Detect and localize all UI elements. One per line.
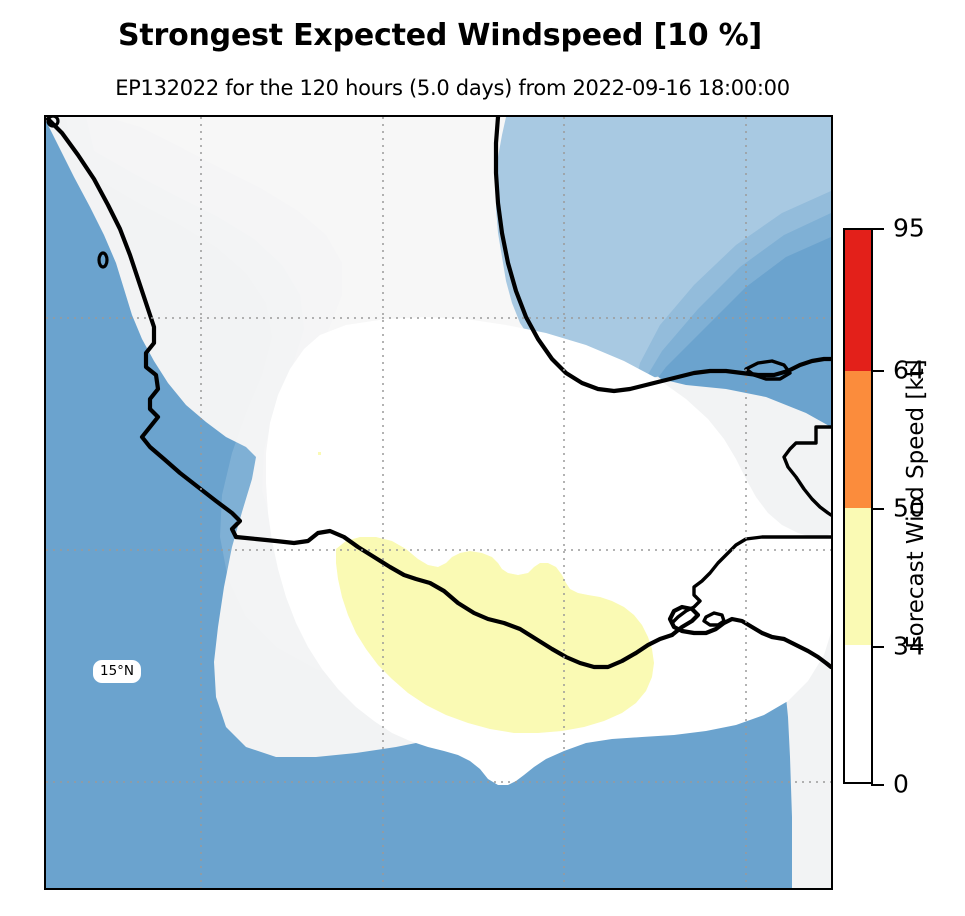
colorbar-axis-label: Forecast Wind Speed [kt] — [903, 224, 935, 784]
colorbar-tick-marks — [871, 228, 891, 784]
colorbar[interactable] — [843, 228, 873, 784]
colorbar-band-64-95 — [845, 230, 871, 371]
colorbar-tick-95 — [871, 228, 884, 230]
colorbar-tick-50 — [871, 508, 884, 510]
page-subtitle: EP132022 for the 120 hours (5.0 days) fr… — [0, 76, 905, 100]
forecast-windspeed-figure: Strongest Expected Windspeed [10 %] EP13… — [0, 0, 965, 916]
colorbar-band-50-64 — [845, 371, 871, 508]
map-canvas — [46, 117, 831, 888]
colorbar-tick-34 — [871, 646, 884, 648]
map-panel[interactable]: 15°N 100°W — [44, 115, 833, 890]
contour-speck — [318, 452, 321, 455]
colorbar-tick-64 — [871, 370, 884, 372]
colorbar-tick-0 — [871, 784, 884, 786]
colorbar-band-34-50 — [845, 508, 871, 645]
page-title: Strongest Expected Windspeed [10 %] — [0, 18, 880, 53]
colorbar-band-0-34 — [845, 645, 871, 782]
latitude-label-15n: 15°N — [93, 660, 141, 683]
